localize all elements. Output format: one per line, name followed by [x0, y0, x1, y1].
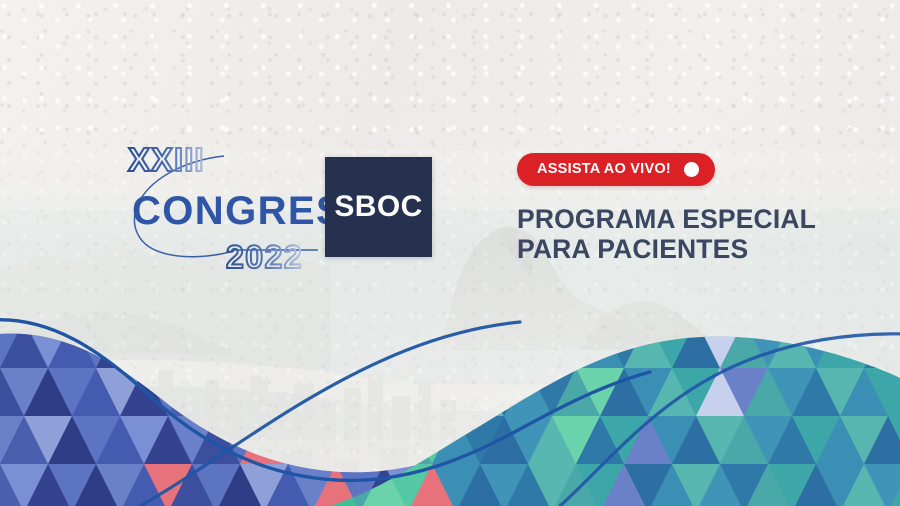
live-badge-label: ASSISTA AO VIVO! [537, 161, 671, 177]
promo-headline-line2: PARA PACIENTES [517, 235, 857, 265]
logo-year: 2022 [226, 239, 303, 270]
promo-headline: PROGRAMA ESPECIAL PARA PACIENTES [517, 205, 857, 264]
promo-block: ASSISTA AO VIVO! PROGRAMA ESPECIAL PARA … [517, 153, 857, 264]
logo-roman-numeral: XXIII [128, 141, 205, 178]
assista-ao-vivo-button[interactable]: ASSISTA AO VIVO! [517, 153, 715, 186]
sboc-logo-badge: SBOC [325, 157, 432, 257]
poster-canvas: XXIII CONGRESSO 2022 SBOC ASSISTA AO VIV… [0, 0, 900, 506]
sboc-logo-text: SBOC [334, 190, 422, 224]
promo-headline-line1: PROGRAMA ESPECIAL [517, 204, 816, 234]
live-indicator-dot-icon [684, 162, 699, 177]
triangular-wave-graphics [0, 300, 900, 506]
